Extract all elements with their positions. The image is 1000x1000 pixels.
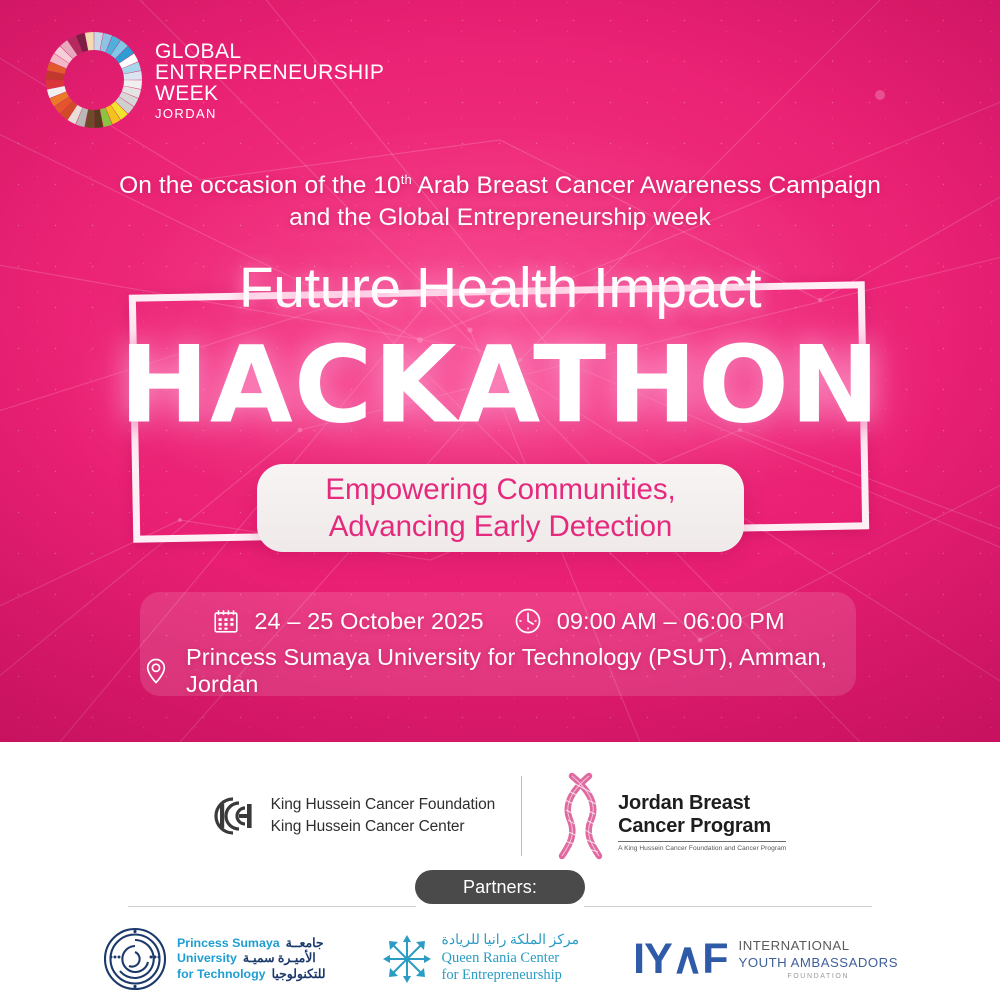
occasion-line1-pre: On the occasion of the 10 [119,172,401,199]
psut-line3-en: for Technology [177,967,266,982]
page-title-hackathon: HACKATHON [0,323,1000,447]
psut-line-3: for Technology للتكنولوجيا [177,967,326,982]
page-title-primary: Future Health Impact [0,255,1000,321]
partners-row: Princess Sumaya جامعــة University الأمي… [0,920,1000,998]
gew-line4: JORDAN [155,107,384,120]
event-date-text: 24 – 25 October 2025 [254,608,483,635]
partners-label: Partners: [463,877,537,898]
psut-line1-ar: جامعــة [286,936,324,951]
khcf-monogram-icon [214,794,258,838]
khcf-line-2: King Hussein Cancer Center [271,816,495,838]
event-info-row-datetime: 24 – 25 October 2025 09:00 AM – 06:00 PM [140,598,856,644]
clock-icon [512,605,544,637]
footer-section: King Hussein Cancer Foundation King Huss… [0,742,1000,1000]
partners-divider-line-right [584,906,872,907]
occasion-line1-post: Arab Breast Cancer Awareness Campaign [412,172,881,199]
arrow-starburst-icon [380,932,434,986]
king-hussein-cancer-foundation-logo: King Hussein Cancer Foundation King Huss… [214,794,495,838]
calendar-icon [211,606,241,636]
queen-rania-center-logo: مركز الملكة رانيا للريادة Queen Rania Ce… [380,932,580,986]
qrce-line-2: for Entrepreneurship [442,967,580,984]
event-date-item: 24 – 25 October 2025 [211,606,483,636]
psut-line3-ar: للتكنولوجيا [272,967,326,982]
pink-ribbon-icon [548,770,614,862]
occasion-text: On the occasion of the 10th Arab Breast … [0,170,1000,234]
jordan-breast-cancer-program-logo: Jordan Breast Cancer Program A King Huss… [548,770,786,862]
hero-section: GLOBAL ENTREPRENEURSHIP WEEK JORDAN On t… [0,0,1000,742]
partners-divider-line-left [128,906,416,907]
event-time-item: 09:00 AM – 06:00 PM [512,605,785,637]
gew-line3: WEEK [155,83,384,104]
iyaf-line-3: FOUNDATION [739,972,898,981]
iyaf-logo: IY∧F INTERNATIONAL YOUTH AMBASSADORS FOU… [633,937,898,980]
qrce-line-1: Queen Rania Center [442,950,580,967]
jbcp-line-1: Jordan Breast [618,792,786,814]
event-time-text: 09:00 AM – 06:00 PM [557,608,785,635]
tagline-pill: Empowering Communities, Advancing Early … [257,464,744,552]
global-entrepreneurship-week-logo: GLOBAL ENTREPRENEURSHIP WEEK JORDAN [44,30,384,130]
psut-line2-ar: الأميـرة سميـة [243,951,316,966]
khcf-line-1: King Hussein Cancer Foundation [271,794,495,816]
partners-label-pill: Partners: [415,870,585,904]
event-location-text: Princess Sumaya University for Technolog… [186,644,856,698]
iyaf-line-2: YOUTH AMBASSADORS [739,954,898,971]
gew-color-ring-icon [44,30,144,130]
occasion-line-1: On the occasion of the 10th Arab Breast … [0,170,1000,202]
psut-line-1: Princess Sumaya جامعــة [177,936,326,951]
organizers-divider [521,776,522,856]
psut-circular-emblem-icon [102,926,168,992]
tagline-line-1: Empowering Communities, [325,471,675,508]
gew-line1: GLOBAL [155,41,384,62]
occasion-ordinal-suffix: th [401,172,412,187]
occasion-line-2: and the Global Entrepreneurship week [0,202,1000,234]
poster-canvas: GLOBAL ENTREPRENEURSHIP WEEK JORDAN On t… [0,0,1000,1000]
gew-line2: ENTREPRENEURSHIP [155,62,384,83]
iyaf-wordmark: IY∧F [633,938,727,981]
event-info-row-location: Princess Sumaya University for Technolog… [140,648,856,694]
jbcp-line-2: Cancer Program [618,815,786,837]
iyaf-line-1: INTERNATIONAL [739,937,898,954]
organizers-row: King Hussein Cancer Foundation King Huss… [0,768,1000,864]
jbcp-rule [618,841,786,842]
qrce-arabic-name: مركز الملكة رانيا للريادة [442,933,580,950]
tagline-line-2: Advancing Early Detection [325,508,675,545]
psut-line1-en: Princess Sumaya [177,936,280,951]
psut-line-2: University الأميـرة سميـة [177,951,326,966]
map-pin-icon [140,655,172,687]
psut-logo: Princess Sumaya جامعــة University الأمي… [102,926,326,992]
jbcp-subtitle: A King Hussein Cancer Foundation and Can… [618,845,786,852]
psut-line2-en: University [177,951,237,966]
